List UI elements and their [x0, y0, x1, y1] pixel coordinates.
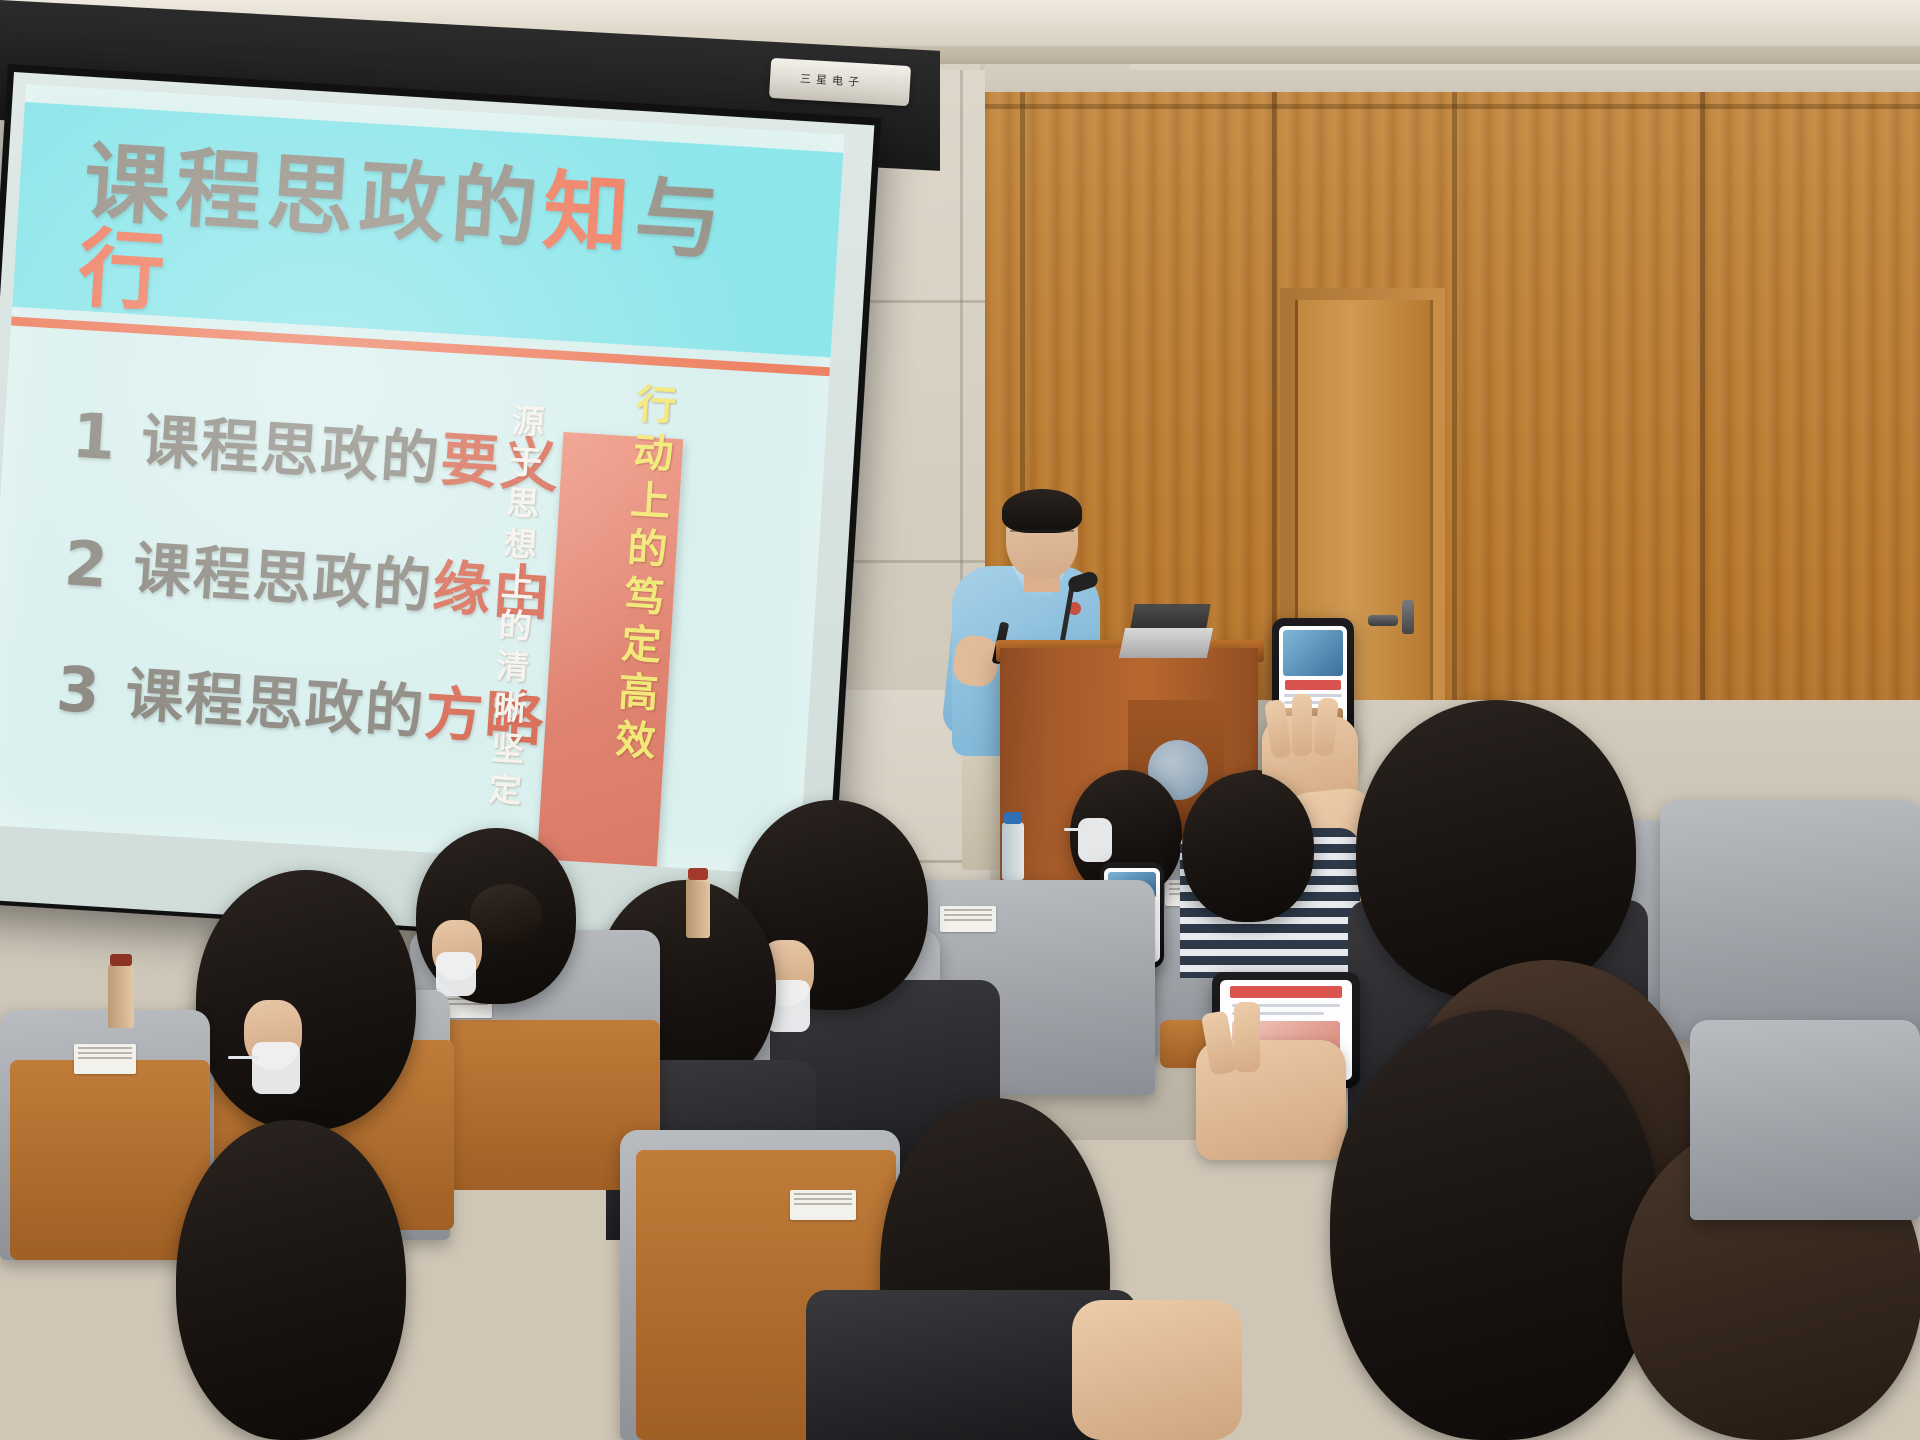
wood-seam [985, 104, 1920, 109]
speaker-hair [1002, 489, 1082, 533]
door-lock-icon [1402, 600, 1414, 634]
list-number: 1 [70, 399, 118, 475]
list-number: 2 [62, 526, 110, 602]
audience-head-mid-right [1182, 772, 1314, 922]
seat-tag [790, 1190, 856, 1220]
seat-front-3-back [10, 1060, 210, 1260]
seat-tag [940, 906, 996, 932]
water-bottle-cap [1004, 812, 1022, 824]
seat-tag [74, 1044, 136, 1074]
face-mask [252, 1042, 300, 1094]
slide-title: 课程思政的知与行 [76, 140, 785, 355]
lecture-hall-photo: 三 星 电 子 课程思政的知与行 1 课程思政的要义what 2 课程思政的缘由… [0, 0, 1920, 1440]
speaker-glasses-icon [1010, 530, 1074, 546]
seat-back-3[interactable] [1660, 800, 1920, 1040]
projected-slide: 课程思政的知与行 1 课程思政的要义what 2 课程思政的缘由why 3 课程… [0, 84, 844, 875]
list-lead: 课程思政的 [123, 660, 427, 746]
audience-head-front-2 [196, 870, 416, 1130]
mask-strap [1064, 828, 1086, 831]
water-bottle-cap [110, 954, 132, 966]
list-text: 课程思政的要义what [139, 394, 623, 508]
slide-title-part-2: 知 [540, 161, 638, 267]
seat-foreground-right[interactable] [1690, 1020, 1920, 1220]
list-number: 3 [54, 652, 102, 728]
mask-strap [228, 1056, 258, 1059]
water-bottle-seat-2 [108, 964, 134, 1028]
list-lead: 课程思政的 [139, 407, 443, 493]
door-handle-icon[interactable] [1368, 615, 1398, 626]
laptop-keyboard[interactable] [1119, 628, 1213, 658]
finger [1292, 694, 1312, 756]
list-lead: 课程思政的 [131, 535, 435, 621]
audience-head-right-large [1356, 700, 1636, 1000]
face-mask [1078, 818, 1112, 862]
slide-body: 1 课程思政的要义what 2 课程思政的缘由why 3 课程思政的方略how … [0, 334, 829, 874]
water-bottle-cap [688, 868, 708, 880]
finger [1234, 1002, 1260, 1072]
audience-arm-foreground [1072, 1300, 1242, 1440]
face-mask [436, 952, 476, 996]
slide-title-part-3: 与 [632, 167, 730, 273]
water-bottle [1002, 822, 1024, 880]
audience-head-foreground-right [1330, 1010, 1660, 1440]
audience-head-foreground-1 [176, 1120, 406, 1440]
water-bottle-seat [686, 878, 710, 938]
slide-title-part-4: 行 [76, 219, 174, 325]
